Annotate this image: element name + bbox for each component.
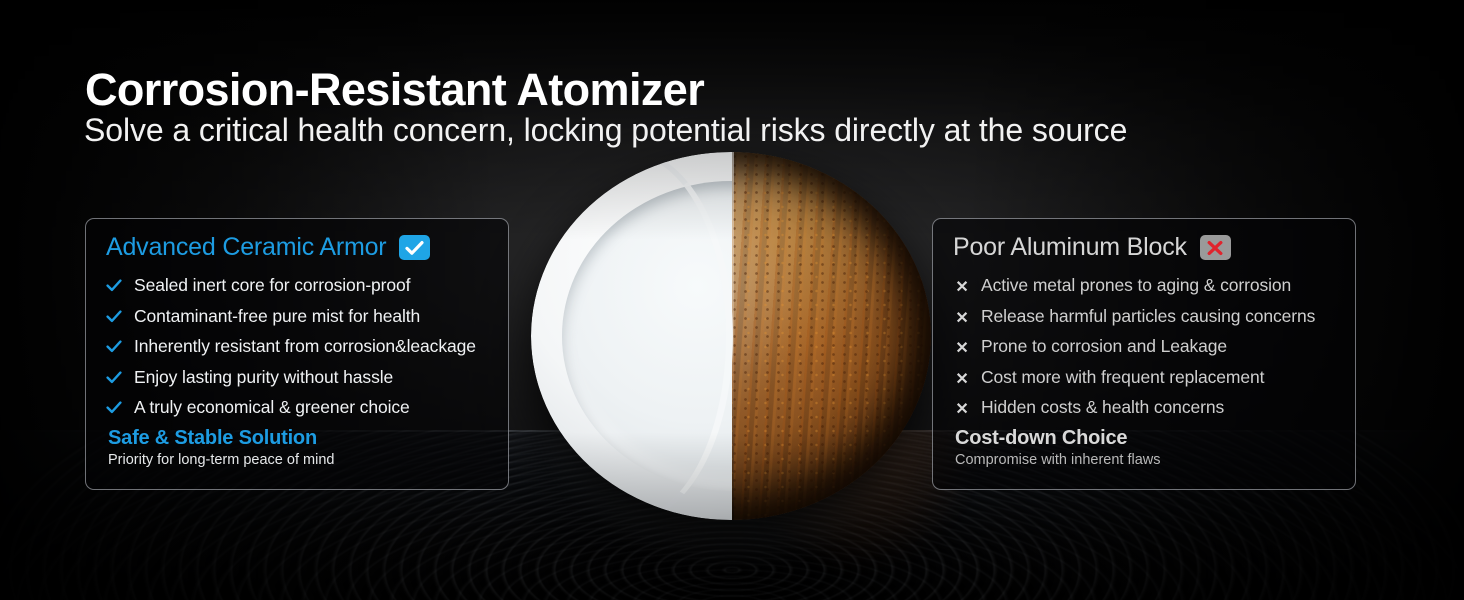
list-item-label: Contaminant-free pure mist for health (134, 306, 420, 327)
list-item-label: A truly economical & greener choice (134, 397, 410, 418)
page-title: Corrosion-Resistant Atomizer (85, 66, 704, 115)
check-icon (106, 371, 124, 384)
panel-poor-aluminum-block: Poor Aluminum Block ✕ Active metal prone… (932, 218, 1356, 490)
check-icon (106, 340, 124, 353)
check-icon (106, 401, 124, 414)
list-item: A truly economical & greener choice (106, 397, 496, 428)
list-item-label: Inherently resistant from corrosion&leac… (134, 336, 476, 357)
list-item-label: Hidden costs & health concerns (981, 397, 1224, 418)
list-item-label: Prone to corrosion and Leakage (981, 336, 1227, 357)
list-item: ✕ Cost more with frequent replacement (953, 367, 1343, 398)
panel-advanced-ceramic-armor: Advanced Ceramic Armor Sealed inert core… (85, 218, 509, 490)
panel-left-footer-title: Safe & Stable Solution (108, 426, 334, 451)
cross-icon (1200, 235, 1231, 260)
panel-right-footer-title: Cost-down Choice (955, 426, 1161, 451)
list-item: Inherently resistant from corrosion&leac… (106, 336, 496, 367)
panel-right-footer-subtitle: Compromise with inherent flaws (955, 451, 1161, 471)
list-item: Contaminant-free pure mist for health (106, 306, 496, 337)
list-item: ✕ Prone to corrosion and Leakage (953, 336, 1343, 367)
check-icon (399, 235, 430, 260)
panel-right-title: Poor Aluminum Block (953, 233, 1187, 262)
product-comparison-banner: Corrosion-Resistant Atomizer Solve a cri… (0, 0, 1464, 600)
list-item: Sealed inert core for corrosion-proof (106, 275, 496, 306)
cross-icon: ✕ (953, 402, 971, 418)
cross-icon: ✕ (953, 311, 971, 327)
panel-right-footer: Cost-down Choice Compromise with inheren… (955, 426, 1161, 471)
check-icon (106, 310, 124, 323)
list-item-label: Sealed inert core for corrosion-proof (134, 275, 410, 296)
list-item-label: Enjoy lasting purity without hassle (134, 367, 393, 388)
panel-left-bullet-list: Sealed inert core for corrosion-proof Co… (106, 275, 496, 428)
panel-left-title: Advanced Ceramic Armor (106, 233, 386, 262)
panel-right-header: Poor Aluminum Block (953, 233, 1231, 262)
cross-icon: ✕ (953, 280, 971, 296)
list-item: ✕ Active metal prones to aging & corrosi… (953, 275, 1343, 306)
cross-icon: ✕ (953, 341, 971, 357)
list-item-label: Release harmful particles causing concer… (981, 306, 1315, 327)
panel-left-footer-subtitle: Priority for long-term peace of mind (108, 451, 334, 471)
list-item-label: Cost more with frequent replacement (981, 367, 1264, 388)
list-item-label: Active metal prones to aging & corrosion (981, 275, 1291, 296)
panel-left-header: Advanced Ceramic Armor (106, 233, 430, 262)
cross-icon: ✕ (953, 372, 971, 388)
check-icon (106, 279, 124, 292)
panel-right-bullet-list: ✕ Active metal prones to aging & corrosi… (953, 275, 1343, 428)
list-item: ✕ Hidden costs & health concerns (953, 397, 1343, 428)
page-subtitle: Solve a critical health concern, locking… (84, 112, 1127, 149)
panel-left-footer: Safe & Stable Solution Priority for long… (108, 426, 334, 471)
list-item: Enjoy lasting purity without hassle (106, 367, 496, 398)
list-item: ✕ Release harmful particles causing conc… (953, 306, 1343, 337)
